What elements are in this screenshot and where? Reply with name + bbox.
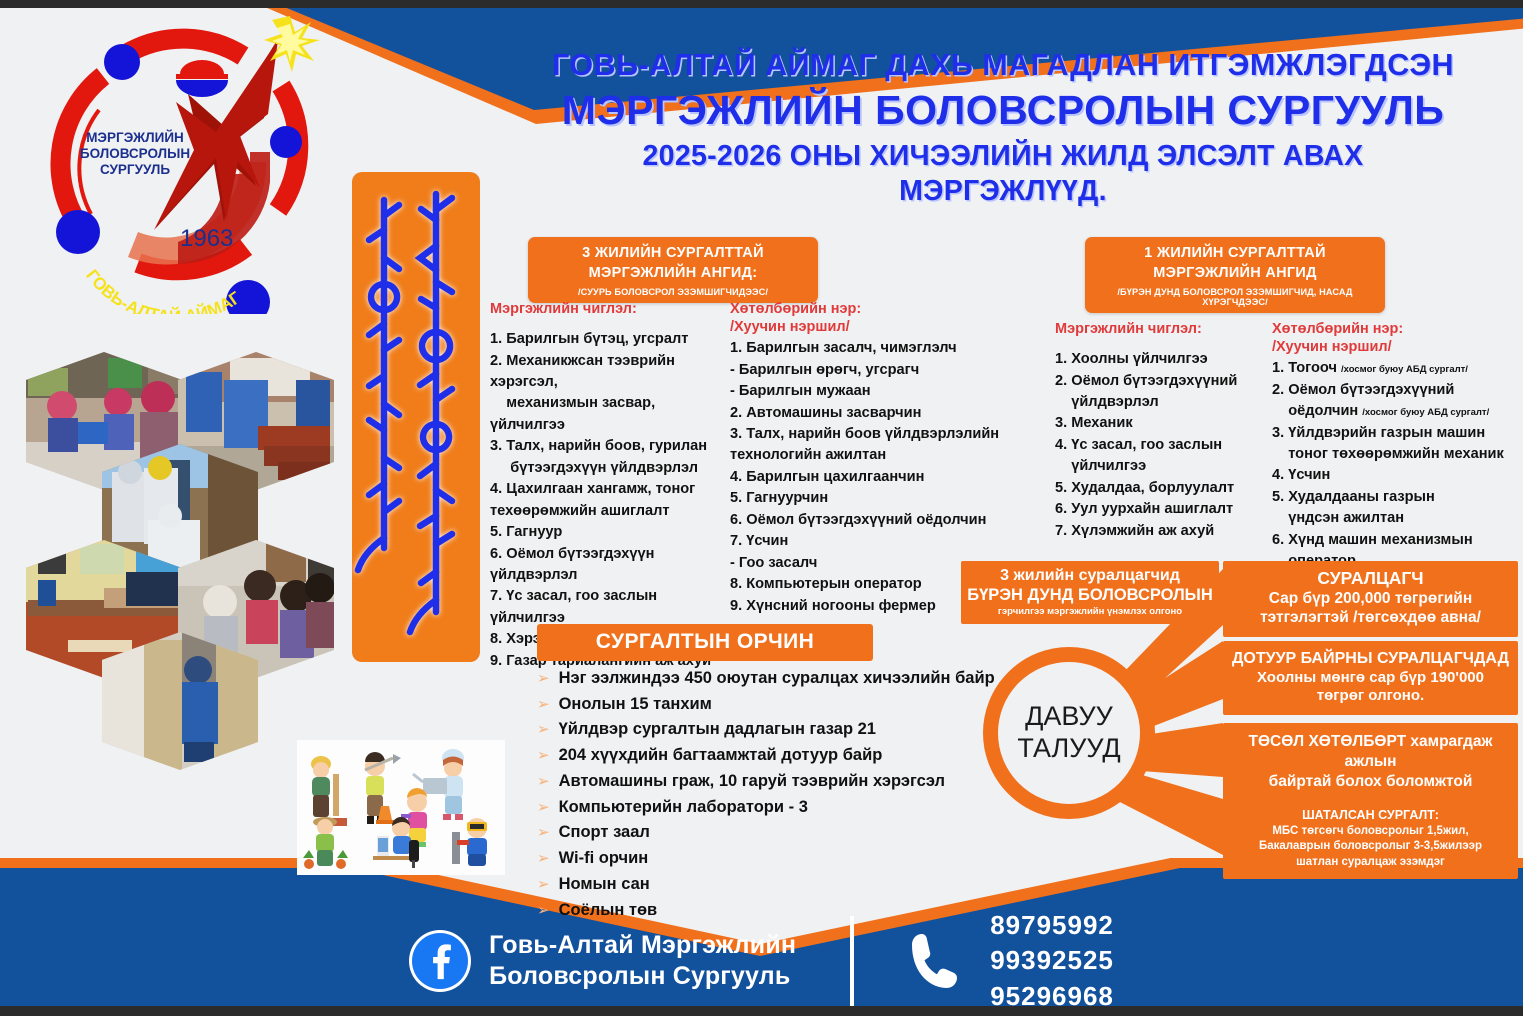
list-item-note: /хосмог буюу АБД сургалт/ (1362, 407, 1489, 418)
benefit-5-line1: ШАТАЛСАН СУРГАЛТ: (1231, 807, 1510, 824)
list-item: 5. Гагнуурчин (730, 488, 1020, 509)
list-item: 4. Барилгын цахилгаанчин (730, 467, 1020, 488)
benefits-circle-line1: ДАВУУ (1025, 701, 1113, 731)
arrow-bullet-icon: ➢ (537, 800, 550, 815)
environment-list-item: ➢Автомашины граж, 10 гаруй тээврийн хэрэ… (537, 769, 1007, 795)
list-item: 7. Үс засал, гоо заслын үйлчилгээ (490, 586, 730, 629)
program-3yr-header: 3 ЖИЛИЙН СУРГАЛТТАЙ МЭРГЭЖЛИЙН АНГИД: /С… (528, 237, 818, 303)
benefit-5-line4: шатлан суралцаж эзэмдэг (1231, 855, 1510, 871)
program-1yr-program-heading-1: Хөтөлбөрийн нэр: (1272, 320, 1522, 338)
benefit-3-line2: Хоолны мөнгө сар бүр 190'000 (1231, 669, 1510, 688)
list-item: 1. Хоолны үйлчилгээ (1055, 349, 1267, 370)
school-logo: МЭРГЭЖЛИЙН БОЛОВСРОЛЫН СУРГУУЛЬ 1963 ГОВ… (28, 14, 338, 314)
program-3yr-field-list: 1. Барилгын бүтэц, угсралт2. Механикжсан… (490, 329, 730, 672)
benefit-5-line2: МБС төгсөгч боловсролыг 1,5жил, (1231, 824, 1510, 840)
program-3yr-program-heading-2: /Хуучин нэршил/ (730, 318, 1020, 336)
list-item-note: /хосмог буюу АБД сургалт/ (1341, 364, 1468, 375)
arrow-bullet-icon: ➢ (537, 851, 550, 866)
arrow-bullet-icon: ➢ (537, 671, 550, 686)
logo-dot-bl (56, 210, 100, 254)
logo-year: 1963 (180, 225, 233, 252)
environment-list-item: ➢Номын сан (537, 872, 1007, 898)
headline-line-4: МЭРГЭЖЛҮҮД. (498, 175, 1508, 208)
poster-root: МЭРГЭЖЛИЙН БОЛОВСРОЛЫН СУРГУУЛЬ 1963 ГОВ… (0, 0, 1523, 1016)
benefit-3-line1: ДОТУУР БАЙРНЫ СУРАЛЦАГЧДАД (1231, 649, 1510, 669)
program-1yr-field-list: 1. Хоолны үйлчилгээ2. Оёмол бүтээгдэхүүн… (1055, 349, 1267, 542)
program-1yr-program-heading-2: /Хуучин нэршил/ (1272, 338, 1522, 356)
phone-numbers: 897959929939252595296968 (990, 908, 1114, 1013)
program-3yr-field-heading: Мэргэжлийн чиглэл: (490, 300, 730, 318)
benefit-2-line3: тэтгэлэгтэй /төгсөхдөө авна/ (1231, 608, 1510, 627)
arrow-bullet-icon: ➢ (537, 697, 550, 712)
program-1yr-title-line1: 1 ЖИЛИЙН СУРГАЛТТАЙ (1095, 244, 1375, 264)
phone-number[interactable]: 99392525 (990, 943, 1114, 978)
environment-list-item: ➢Онолын 15 танхим (537, 692, 1007, 718)
list-item: 1. Тогооч /хосмог буюу АБД сургалт/ (1272, 358, 1522, 379)
list-item: 4. Цахилгаан хангамж, тоног техөөрөмжийн… (490, 479, 730, 522)
benefit-2-line1: СУРАЛЦАГЧ (1231, 568, 1510, 589)
logo-text-line1: МЭРГЭЖЛИЙН (86, 130, 184, 145)
list-item: 2. Механикжсан тээврийн хэрэгсэл, механи… (490, 351, 730, 437)
phone-number[interactable]: 89795992 (990, 908, 1114, 943)
list-item: 4. Үсчин (1272, 465, 1522, 486)
benefit-box-stipend: СУРАЛЦАГЧ Сар бүр 200,000 төгрөгийн тэтг… (1223, 561, 1518, 637)
program-3yr-field-column: Мэргэжлийн чиглэл: 1. Барилгын бүтэц, уг… (490, 300, 730, 672)
facebook-page-name: Говь-Алтай Мэргэжлийн Боловсролын Сургуу… (489, 930, 796, 993)
footer-contacts: Говь-Алтай Мэргэжлийн Боловсролын Сургуу… (0, 906, 1523, 1016)
list-item: 7. Хүлэмжийн аж ахуй (1055, 521, 1267, 542)
benefits-circle-line2: ТАЛУУД (1017, 733, 1120, 763)
arrow-bullet-icon: ➢ (537, 774, 550, 789)
list-item: 3. Талх, нарийн боов үйлдвэрлэлийн техно… (730, 424, 1020, 467)
program-1yr-field-heading: Мэргэжлийн чиглэл: (1055, 320, 1267, 338)
list-item: 7. Үсчин (730, 531, 1020, 552)
arrow-bullet-icon: ➢ (537, 722, 550, 737)
list-item: 3. Талх, нарийн боов, гурилан бүтээгдэхү… (490, 436, 730, 479)
headline-line-2: МЭРГЭЖЛИЙН БОЛОВСРОЛЫН СУРГУУЛЬ (498, 87, 1508, 134)
training-environment-section: СУРГАЛТЫН ОРЧИН ➢Нэг ээлжиндээ 450 оюута… (537, 624, 1007, 923)
list-item: 2. Оёмол бүтээгдэхүүний үйлдвэрлэл (1055, 371, 1267, 414)
benefit-box-dorm-meal: ДОТУУР БАЙРНЫ СУРАЛЦАГЧДАД Хоолны мөнгө … (1223, 641, 1518, 715)
environment-list-item-label: Нэг ээлжиндээ 450 оюутан суралцах хичээл… (559, 666, 995, 692)
benefit-4-line2: байртай болох боломжтой (1231, 772, 1510, 792)
benefit-2-line2: Сар бүр 200,000 төгрөгийн (1231, 589, 1510, 608)
program-1yr-field-column: Мэргэжлийн чиглэл: 1. Хоолны үйлчилгээ2.… (1055, 320, 1267, 542)
environment-list-item-label: Компьютерийн лаборатори - 3 (559, 795, 808, 821)
list-item: 5. Худалдаа, борлуулалт (1055, 478, 1267, 499)
benefits-circle-label: ДАВУУ ТАЛУУД (983, 647, 1155, 819)
facebook-icon[interactable] (409, 930, 471, 992)
benefit-4-line1: ТӨСӨЛ ХӨТӨЛБӨРТ хамрагдаж ажлын (1231, 732, 1510, 772)
top-dark-strip (0, 0, 1523, 8)
environment-list-item-label: Онолын 15 танхим (559, 692, 712, 718)
logo-text-line2: БОЛОВСРОЛЫН (80, 146, 190, 161)
environment-list-item-label: 204 хүүхдийн багтаамжтай дотуур байр (559, 743, 883, 769)
environment-list-item-label: Үйлдвэр сургалтын дадлагын газар 21 (559, 717, 876, 743)
footer-divider (850, 916, 854, 1006)
profession-cartoons-illustration (297, 740, 505, 875)
logo-dot-r (270, 126, 302, 158)
headline-line-1: ГОВЬ-АЛТАЙ АЙМАГ ДАХЬ МАГАДЛАН ИТГЭМЖЛЭГ… (498, 48, 1508, 83)
list-item: 6. Оёмол бүтээгдэхүүний оёдолчин (730, 510, 1020, 531)
headline-line-3: 2025-2026 ОНЫ ХИЧЭЭЛИЙН ЖИЛД ЭЛСЭЛТ АВАХ (498, 140, 1508, 173)
environment-list-item: ➢Спорт заал (537, 820, 1007, 846)
poster-headline: ГОВЬ-АЛТАЙ АЙМАГ ДАХЬ МАГАДЛАН ИТГЭМЖЛЭГ… (498, 48, 1508, 208)
environment-list-item: ➢Компьютерийн лаборатори - 3 (537, 795, 1007, 821)
logo-text-line3: СУРГУУЛЬ (100, 162, 170, 177)
environment-list-item: ➢Үйлдвэр сургалтын дадлагын газар 21 (537, 717, 1007, 743)
program-3yr-subtitle: /СУУРЬ БОЛОВСРОЛ ЭЗЭМШИГЧИДЭЭС/ (538, 287, 808, 297)
benefit-3-line3: төгрөг олгоно. (1231, 687, 1510, 706)
program-3yr-program-heading-1: Хөтөлбөрийн нэр: (730, 300, 1020, 318)
program-1yr-subtitle: /БҮРЭН ДУНД БОЛОВСРОЛ ЭЗЭМШИГЧИД, НАСАД … (1095, 287, 1375, 307)
facebook-name-line2: Боловсролын Сургууль (489, 961, 796, 992)
program-1yr-header: 1 ЖИЛИЙН СУРГАЛТТАЙ МЭРГЭЖЛИЙН АНГИД /БҮ… (1085, 237, 1385, 313)
facebook-block[interactable]: Говь-Алтай Мэргэжлийн Боловсролын Сургуу… (409, 930, 796, 993)
program-3yr-title-line2: МЭРГЭЖЛИЙН АНГИД: (538, 264, 808, 284)
program-1yr-title-line2: МЭРГЭЖЛИЙН АНГИД (1095, 264, 1375, 284)
list-item: 6. Оёмол бүтээгдэхүүн үйлдвэрлэл (490, 544, 730, 587)
training-environment-list: ➢Нэг ээлжиндээ 450 оюутан суралцах хичээ… (537, 666, 1007, 923)
phone-icon (908, 930, 964, 992)
benefit-1-line1: 3 жилийн суралцагчид (967, 567, 1213, 586)
arrow-bullet-icon: ➢ (537, 825, 550, 840)
list-item: - Барилгын мужаан (730, 381, 1020, 402)
benefit-box-secondary-diploma: 3 жилийн суралцагчид БҮРЭН ДУНД БОЛОВСРО… (961, 561, 1219, 624)
benefit-1-line2: БҮРЭН ДУНД БОЛОВСРОЛЫН (967, 586, 1213, 605)
benefits-section: 3 жилийн суралцагчид БҮРЭН ДУНД БОЛОВСРО… (955, 555, 1523, 895)
logo-dot-tl (104, 44, 140, 80)
list-item: 2. Автомашины засварчин (730, 403, 1020, 424)
list-item: 3. Механик (1055, 413, 1267, 434)
environment-list-item-label: Спорт заал (559, 820, 650, 846)
list-item: 4. Үс засал, гоо заслын үйлчилгээ (1055, 435, 1267, 478)
photo-collage (8, 350, 338, 895)
arrow-bullet-icon: ➢ (537, 877, 550, 892)
environment-list-item: ➢204 хүүхдийн багтаамжтай дотуур байр (537, 743, 1007, 769)
list-item: 5. Худалдааны газрын үндсэн ажилтан (1272, 487, 1522, 530)
mongolian-script-panel (352, 172, 480, 662)
arrow-bullet-icon: ➢ (537, 748, 550, 763)
training-environment-title: СУРГАЛТЫН ОРЧИН (537, 624, 873, 661)
benefit-1-line3: гэрчилгээ мэргэжлийн үнэмлэх олгоно (967, 606, 1213, 617)
list-item: - Барилгын өрөгч, угсрагч (730, 360, 1020, 381)
environment-list-item-label: Wi-fi орчин (559, 846, 649, 872)
list-item: 1. Барилгын засалч, чимэглэлч (730, 338, 1020, 359)
phone-block[interactable]: 897959929939252595296968 (908, 908, 1114, 1013)
list-item: 2. Оёмол бүтээгдэхүүний оёдолчин /хосмог… (1272, 380, 1522, 423)
list-item: 5. Гагнуур (490, 522, 730, 543)
environment-list-item: ➢Нэг ээлжиндээ 450 оюутан суралцах хичээ… (537, 666, 1007, 692)
list-item: 1. Барилгын бүтэц, угсралт (490, 329, 730, 350)
bottom-dark-strip (0, 1006, 1523, 1016)
facebook-name-line1: Говь-Алтай Мэргэжлийн (489, 930, 796, 961)
benefit-box-staged-education: ШАТАЛСАН СУРГАЛТ: МБС төгсөгч боловсролы… (1223, 799, 1518, 879)
list-item: 6. Уул уурхайн ашиглалт (1055, 499, 1267, 520)
environment-list-item: ➢Wi-fi орчин (537, 846, 1007, 872)
benefit-box-employment-project: ТӨСӨЛ ХӨТӨЛБӨРТ хамрагдаж ажлын байртай … (1223, 723, 1518, 801)
program-3yr-title-line1: 3 ЖИЛИЙН СУРГАЛТТАЙ (538, 244, 808, 264)
benefit-5-line3: Бакалаврын боловсролыг 3-3,5жилээр (1231, 839, 1510, 855)
environment-list-item-label: Автомашины граж, 10 гаруй тээврийн хэрэг… (559, 769, 945, 795)
environment-list-item-label: Номын сан (559, 872, 650, 898)
list-item: 3. Үйлдвэрийн газрын машин тоног төхөөрө… (1272, 423, 1522, 466)
